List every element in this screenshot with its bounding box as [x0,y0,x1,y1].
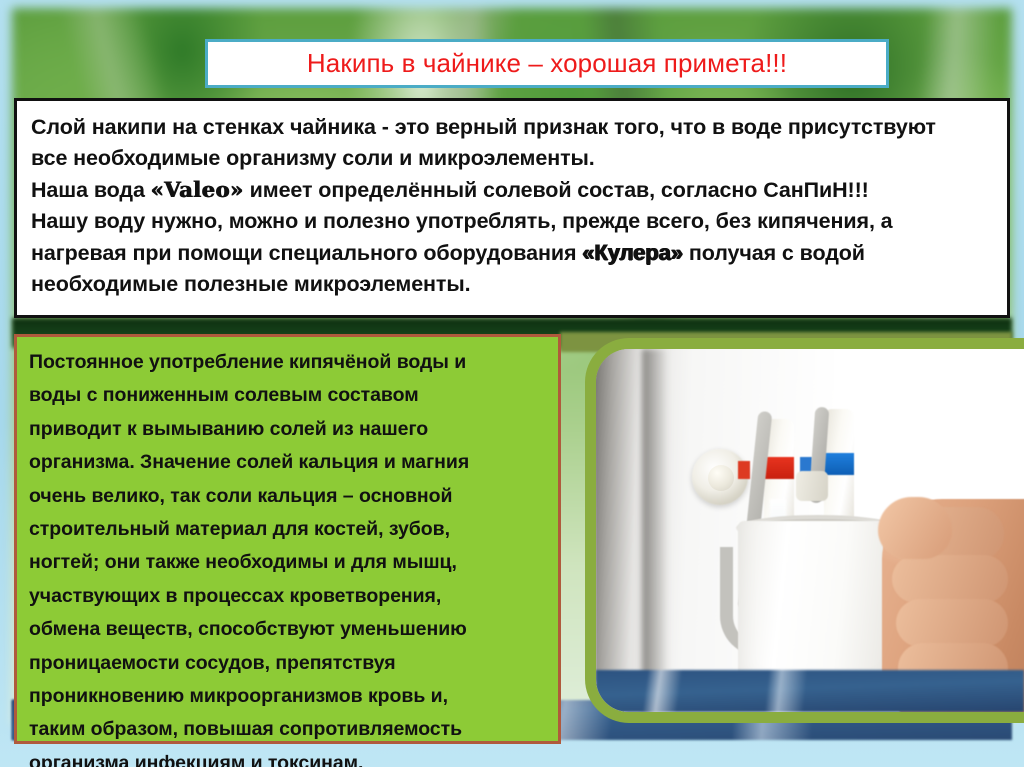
green-text-line: строительный материал для костей, зубов, [29,513,548,546]
brand-name-valeo: «Valeo» [151,177,244,202]
green-text-line: организма инфекциям и токсинам. [29,747,548,767]
green-text-line: проникновению микроорганизмов кровь и, [29,680,548,713]
presentation-slide: Накипь в чайнике – хорошая примета!!! Сл… [0,0,1024,767]
green-text-line: проницаемости сосудов, препятствуя [29,647,548,680]
finger [896,599,1008,647]
thumb [878,497,952,559]
cooler-fitting-knob [708,465,734,491]
green-text-line: ногтей; они также необходимы и для мышц, [29,546,548,579]
page-title: Накипь в чайнике – хорошая примета!!! [307,48,787,79]
green-text-line: очень велико, так соли кальция – основно… [29,480,548,513]
main-text-line-3-suffix: имеет определённый солевой состав, согла… [244,178,869,202]
main-text-line-3-prefix: Наша вода [31,178,151,202]
green-text-line: Постоянное употребление кипячёной воды и [29,346,548,379]
green-text-line: приводит к вымыванию солей из нашего [29,413,548,446]
green-text-box: Постоянное употребление кипячёной воды и… [14,334,561,744]
water-cooler-photo [585,338,1024,723]
cooler-middle-knob [796,471,828,501]
cooler-side-edge [642,349,668,712]
main-text-line-6: необходимые полезные микроэлементы. [31,269,993,300]
title-box: Накипь в чайнике – хорошая примета!!! [205,39,889,88]
green-text-line: воды с пониженным солевым составом [29,379,548,412]
brand-name-cooler: «Кулера» [582,240,683,265]
main-text-line-3: Наша вода «Valeo» имеет определённый сол… [31,174,993,206]
photo-water-texture [596,670,1024,712]
main-text-box: Слой накипи на стенках чайника - это вер… [14,98,1010,318]
green-text-line: таким образом, повышая сопротивляемость [29,713,548,746]
main-text-line-1: Слой накипи на стенках чайника - это вер… [31,112,993,143]
photo-inner [596,349,1024,712]
main-text-line-5-suffix: получая с водой [683,241,865,265]
main-text-line-5-prefix: нагревая при помощи специального оборудо… [31,241,582,265]
main-text-line-4: Нашу воду нужно, можно и полезно употреб… [31,206,993,237]
hot-tap-red-band [764,457,794,479]
finger [892,555,1008,603]
main-text-line-2: все необходимые организму соли и микроэл… [31,143,993,174]
hot-tap-red-marker [738,461,750,479]
main-text-line-5: нагревая при помощи специального оборудо… [31,237,993,269]
green-text-line: участвующих в процессах кроветворения, [29,580,548,613]
cold-tap-blue-band [824,453,854,475]
green-text-line: обмена веществ, способствуют уменьшению [29,613,548,646]
green-text-line: организма. Значение солей кальция и магн… [29,446,548,479]
